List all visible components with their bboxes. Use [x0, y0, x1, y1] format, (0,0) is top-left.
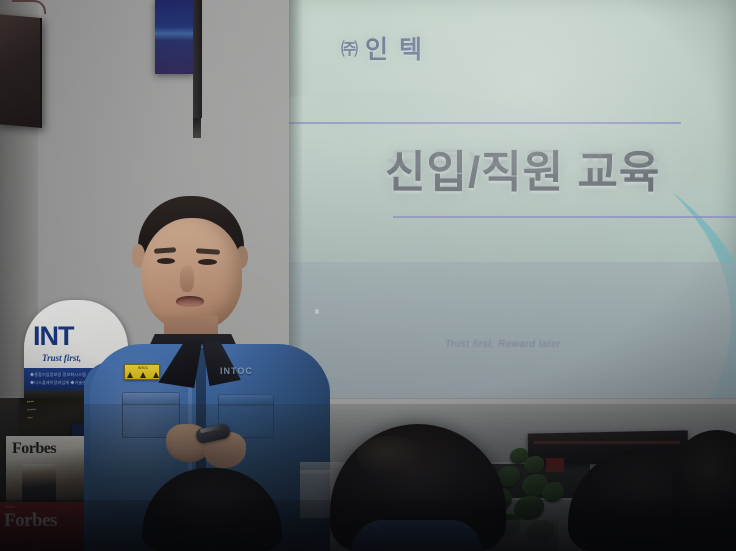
- forbes-red-kicker: ▪▪▪▪▪▪: [6, 504, 15, 509]
- poster-frame-edge: [193, 0, 202, 118]
- audience-head-highlight: [356, 436, 426, 476]
- badge-icon-left: [127, 372, 133, 378]
- plant-leaf: [542, 482, 564, 502]
- badge-label: INTOC: [125, 366, 161, 371]
- presenter-eye-right: [198, 259, 217, 265]
- magazine-forbes-red: ▪▪▪▪▪▪ Forbes: [0, 502, 84, 551]
- presenter-eye-left: [157, 258, 175, 264]
- magazine-top-text: ▪▪▪▪▪▪▪▪▪▪▪▪: [26, 398, 36, 422]
- slide-rule-top: [289, 122, 681, 124]
- banner-brand-text: INT: [33, 321, 74, 352]
- equipment-light-slit: [534, 441, 680, 444]
- corporation-mark-icon: ㈜: [341, 40, 360, 59]
- poster-frame-lower: [193, 118, 201, 138]
- badge-icon-row: [127, 372, 159, 378]
- presenter-nose: [180, 266, 194, 292]
- blue-poster: [155, 0, 195, 74]
- slide-title-reflection: 신입/직원 교육: [385, 145, 660, 180]
- uniform-pocket-left-flap: [122, 392, 180, 405]
- projection-screen: ㈜인 텍 신입/직원 교육 신입/직원 교육 Trust first, Rewa…: [289, 0, 736, 398]
- slide-lower-panel: [289, 262, 736, 398]
- slide-company-logo: ㈜인 텍: [341, 30, 424, 66]
- plant-leaf: [524, 456, 544, 473]
- banner-strip-line-1: ◆종합기업정보망 정보화시스템: [30, 372, 86, 378]
- wall-monitor: [0, 14, 42, 128]
- audience-head-far-right: [672, 430, 736, 551]
- forbes-masthead: Forbes: [12, 440, 56, 458]
- badge-icon-right: [153, 372, 159, 378]
- slide-company-name: 인 텍: [365, 36, 424, 64]
- monitor-cable: [12, 0, 46, 14]
- badge-icon-center: [140, 372, 146, 378]
- forbes-masthead-red: Forbes: [4, 510, 57, 532]
- audience-shoulders-center: [352, 520, 482, 551]
- magazine-forbes-white: Forbes: [6, 436, 84, 504]
- slide-tagline: Trust first, Reward later: [445, 339, 561, 350]
- presenter-mouth: [176, 296, 204, 307]
- slide-rule-bottom: [393, 216, 736, 218]
- uniform-name-badge: INTOC: [124, 364, 160, 380]
- uniform-chest-logo: INTOC: [220, 366, 253, 376]
- uniform-pocket-right-flap: [218, 394, 274, 406]
- plant-leaf: [514, 496, 544, 520]
- cover-figure: [22, 464, 56, 502]
- banner-tagline-text: Trust first,: [42, 353, 81, 363]
- presentation-photo: ㈜인 텍 신입/직원 교육 신입/직원 교육 Trust first, Rewa…: [0, 0, 736, 551]
